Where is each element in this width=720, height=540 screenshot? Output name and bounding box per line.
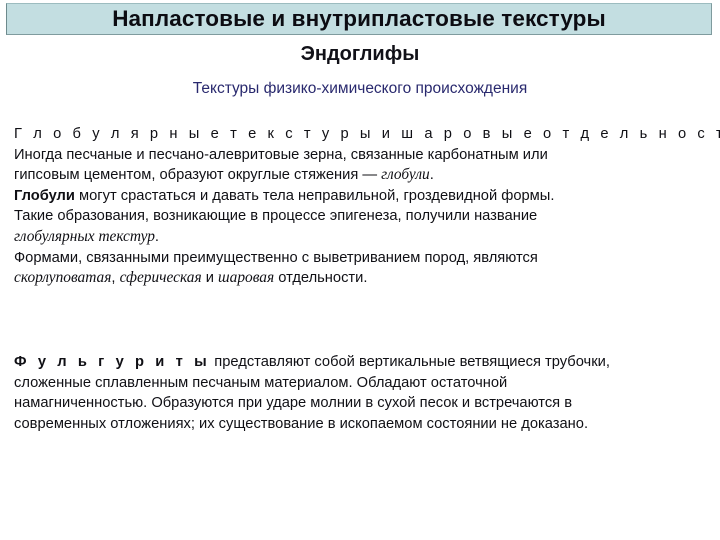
fulgurite-term-heading: Ф у л ь г у р и т ы	[14, 354, 210, 370]
text-line: гипсовым цементом, образуют округлые стя…	[14, 165, 712, 186]
globular-term-heading: Г л о б у л я р н ы е т е к с т у р ы и …	[14, 124, 712, 145]
text-line: скорлуповатая, сферическая и шаровая отд…	[14, 268, 712, 289]
text-run: Такие образования, возникающие в процесс…	[14, 208, 537, 224]
text-line: современных отложениях; их существование…	[14, 414, 712, 435]
text-run: отдельности.	[274, 270, 367, 286]
italic-term: глобули	[381, 166, 430, 183]
text-line: Иногда песчаные и песчано-алевритовые зе…	[14, 145, 712, 166]
text-run: намагниченностью. Образуются при ударе м…	[14, 395, 572, 411]
section-subheading: Текстуры физико-химического происхождени…	[0, 80, 720, 97]
text-line: глобулярных текстур.	[14, 227, 712, 248]
text-line: Такие образования, возникающие в процесс…	[14, 206, 712, 227]
text-run: .	[430, 167, 434, 183]
italic-term: глобулярных текстур	[14, 228, 155, 245]
text-run: .	[155, 229, 159, 245]
globular-paragraph-lines: Иногда песчаные и песчано-алевритовые зе…	[14, 145, 712, 289]
fulgurite-block: Ф у л ь г у р и т ы представляют собой в…	[14, 352, 712, 434]
text-run: Формами, связанными преимущественно с вы…	[14, 250, 538, 266]
text-run: современных отложениях; их существование…	[14, 416, 588, 432]
text-run: и	[202, 270, 218, 286]
text-line: Ф у л ь г у р и т ы представляют собой в…	[14, 352, 712, 373]
text-run: ,	[111, 270, 119, 286]
slide-title: Напластовые и внутрипластовые текстуры	[112, 8, 606, 31]
italic-term: шаровая	[218, 269, 274, 286]
text-run: могут срастаться и давать тела неправиль…	[75, 188, 555, 204]
text-run: представляют собой вертикальные ветвящие…	[210, 354, 610, 370]
text-line: сложенные сплавленным песчаным материало…	[14, 373, 712, 394]
italic-term: сферическая	[120, 269, 202, 286]
text-run: Иногда песчаные и песчано-алевритовые зе…	[14, 147, 548, 163]
text-line: намагниченностью. Образуются при ударе м…	[14, 393, 712, 414]
slide-title-banner: Напластовые и внутрипластовые текстуры	[6, 3, 712, 35]
globular-textures-block: Г л о б у л я р н ы е т е к с т у р ы и …	[14, 124, 712, 289]
text-line: Глобули могут срастаться и давать тела н…	[14, 186, 712, 207]
section-heading: Эндоглифы	[0, 43, 720, 65]
fulgurite-paragraph-lines: Ф у л ь г у р и т ы представляют собой в…	[14, 352, 712, 434]
italic-term: скорлуповатая	[14, 269, 111, 286]
text-run: сложенные сплавленным песчаным материало…	[14, 375, 507, 391]
bold-term: Глобули	[14, 188, 75, 204]
text-line: Формами, связанными преимущественно с вы…	[14, 248, 712, 269]
text-run: гипсовым цементом, образуют округлые стя…	[14, 167, 381, 183]
